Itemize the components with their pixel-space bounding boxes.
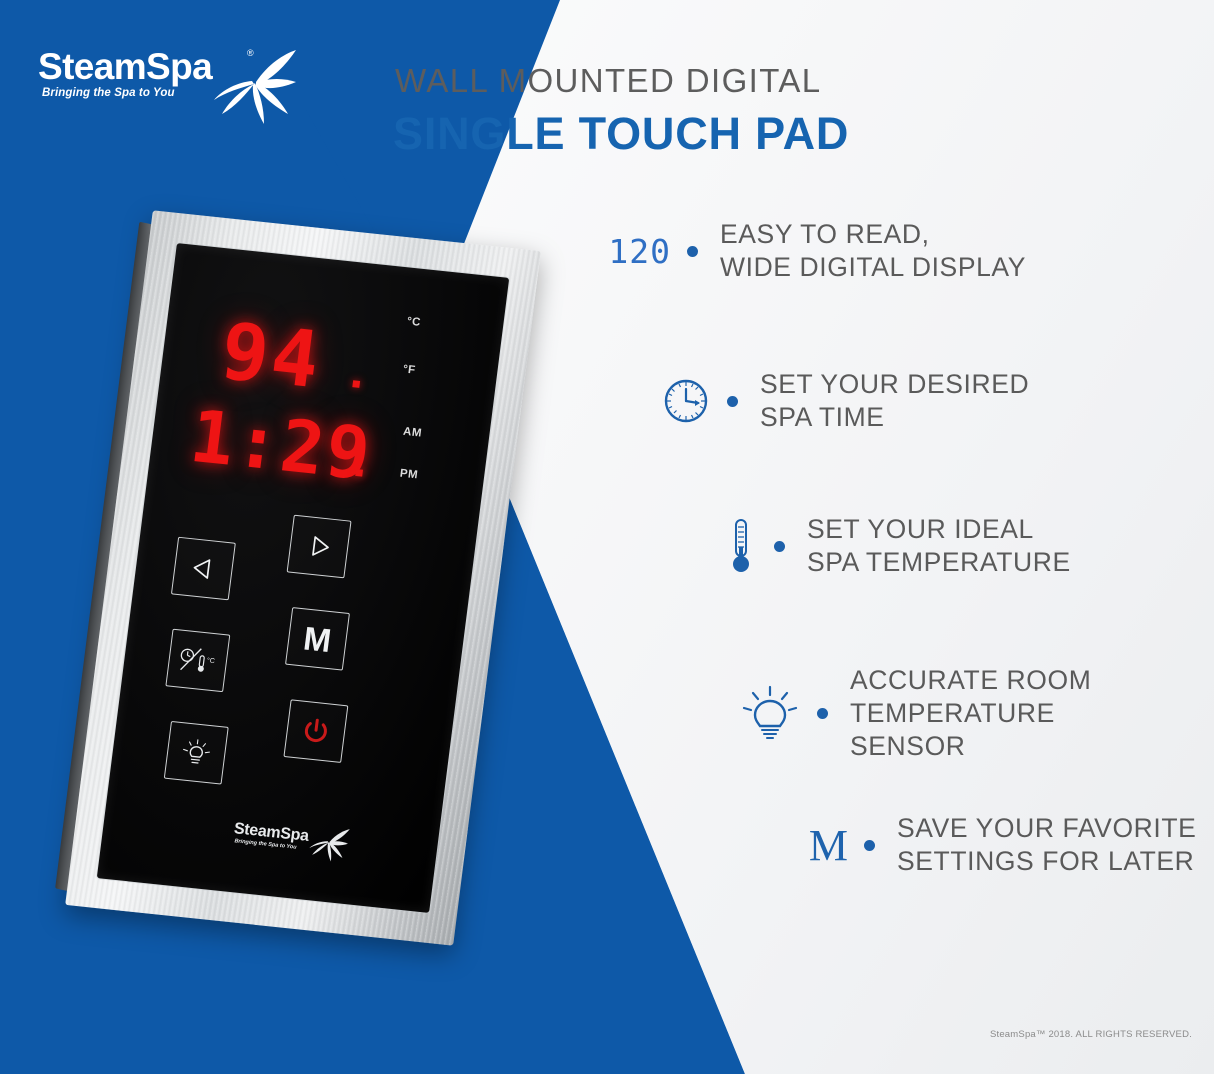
left-arrow-button[interactable] bbox=[171, 537, 236, 601]
feature-text-sensor: ACCURATE ROOM TEMPERATURE SENSOR bbox=[850, 664, 1091, 763]
feature-line-3: SENSOR bbox=[850, 730, 1091, 763]
feature-item-display: 120 EASY TO READ, WIDE DIGITAL DISPLAY bbox=[585, 218, 1026, 284]
bullet-dot bbox=[687, 246, 698, 257]
feature-item-time: SET YOUR DESIRED SPA TIME bbox=[625, 368, 1029, 434]
bullet-dot bbox=[774, 541, 785, 552]
left-arrow-icon bbox=[189, 554, 218, 583]
thermometer-icon bbox=[672, 517, 758, 575]
feature-line-1: SAVE YOUR FAVORITE bbox=[897, 812, 1196, 845]
lightbulb-icon bbox=[715, 683, 801, 745]
meridiem-am-label: AM bbox=[402, 426, 422, 440]
bullet-dot bbox=[727, 396, 738, 407]
clock-thermometer-slash-icon: °C bbox=[176, 643, 220, 677]
led-time-dot bbox=[355, 469, 363, 477]
bullet-dot bbox=[817, 708, 828, 719]
time-temp-toggle-button[interactable]: °C bbox=[165, 629, 230, 693]
feature-item-temperature: SET YOUR IDEAL SPA TEMPERATURE bbox=[672, 513, 1071, 579]
feature-text-display: EASY TO READ, WIDE DIGITAL DISPLAY bbox=[720, 218, 1026, 284]
bulb-rays-icon bbox=[179, 736, 213, 769]
unit-celsius-label: °C bbox=[406, 316, 421, 329]
power-button[interactable] bbox=[283, 699, 348, 763]
device-brand-logo: SteamSpa Bringing the Spa to You bbox=[230, 820, 364, 873]
feature-line-2: SPA TEMPERATURE bbox=[807, 546, 1071, 579]
feature-line-2: SPA TIME bbox=[760, 401, 1029, 434]
feature-line-2: SETTINGS FOR LATER bbox=[897, 845, 1196, 878]
unit-fahrenheit-label: °F bbox=[402, 363, 416, 376]
feature-text-memory: SAVE YOUR FAVORITE SETTINGS FOR LATER bbox=[897, 812, 1196, 878]
copyright-notice: SteamSpa™ 2018. ALL RIGHTS RESERVED. bbox=[990, 1029, 1192, 1040]
memory-letter: M bbox=[809, 820, 848, 871]
feature-item-memory: M SAVE YOUR FAVORITE SETTINGS FOR LATER bbox=[762, 812, 1196, 878]
brand-logo-tagline: Bringing the Spa to You bbox=[42, 87, 175, 99]
feature-line-2: TEMPERATURE bbox=[850, 697, 1091, 730]
feature-text-time: SET YOUR DESIRED SPA TIME bbox=[760, 368, 1029, 434]
right-arrow-icon bbox=[305, 532, 334, 561]
svg-text:°C: °C bbox=[206, 656, 215, 665]
feature-line-1: ACCURATE ROOM bbox=[850, 664, 1091, 697]
led-time-value: 1:29 bbox=[186, 394, 377, 496]
led-temperature-value: 94 bbox=[216, 307, 327, 407]
leaf-fan-icon bbox=[212, 48, 298, 126]
brand-logo-wordmark: SteamSpa bbox=[38, 46, 212, 88]
page-subtitle: WALL MOUNTED DIGITAL bbox=[395, 62, 821, 100]
brand-logo: SteamSpa Bringing the Spa to You ® bbox=[34, 40, 294, 126]
feature-line-1: SET YOUR IDEAL bbox=[807, 513, 1071, 546]
feature-line-1: EASY TO READ, bbox=[720, 218, 1026, 251]
power-icon bbox=[300, 716, 331, 747]
bullet-dot bbox=[864, 840, 875, 851]
led-temp-dot bbox=[352, 380, 360, 388]
light-button[interactable] bbox=[164, 721, 229, 785]
meridiem-pm-label: PM bbox=[399, 468, 419, 482]
right-arrow-button[interactable] bbox=[287, 515, 352, 579]
memory-m-icon: M bbox=[762, 820, 848, 871]
memory-button[interactable]: M bbox=[285, 607, 350, 671]
feature-line-1: SET YOUR DESIRED bbox=[760, 368, 1029, 401]
feature-line-2: WIDE DIGITAL DISPLAY bbox=[720, 251, 1026, 284]
clock-icon bbox=[625, 376, 711, 426]
memory-button-label: M bbox=[302, 621, 333, 657]
seven-segment-value: 120 bbox=[608, 232, 671, 271]
feature-item-sensor: ACCURATE ROOM TEMPERATURE SENSOR bbox=[715, 664, 1091, 763]
feature-text-temperature: SET YOUR IDEAL SPA TEMPERATURE bbox=[807, 513, 1071, 579]
page-title: SINGLE TOUCH PAD bbox=[393, 108, 849, 160]
infographic-page: SteamSpa Bringing the Spa to You ® WALL … bbox=[0, 0, 1214, 1074]
seven-segment-120-icon: 120 bbox=[585, 232, 671, 271]
device-leaf-fan-icon bbox=[307, 824, 351, 864]
